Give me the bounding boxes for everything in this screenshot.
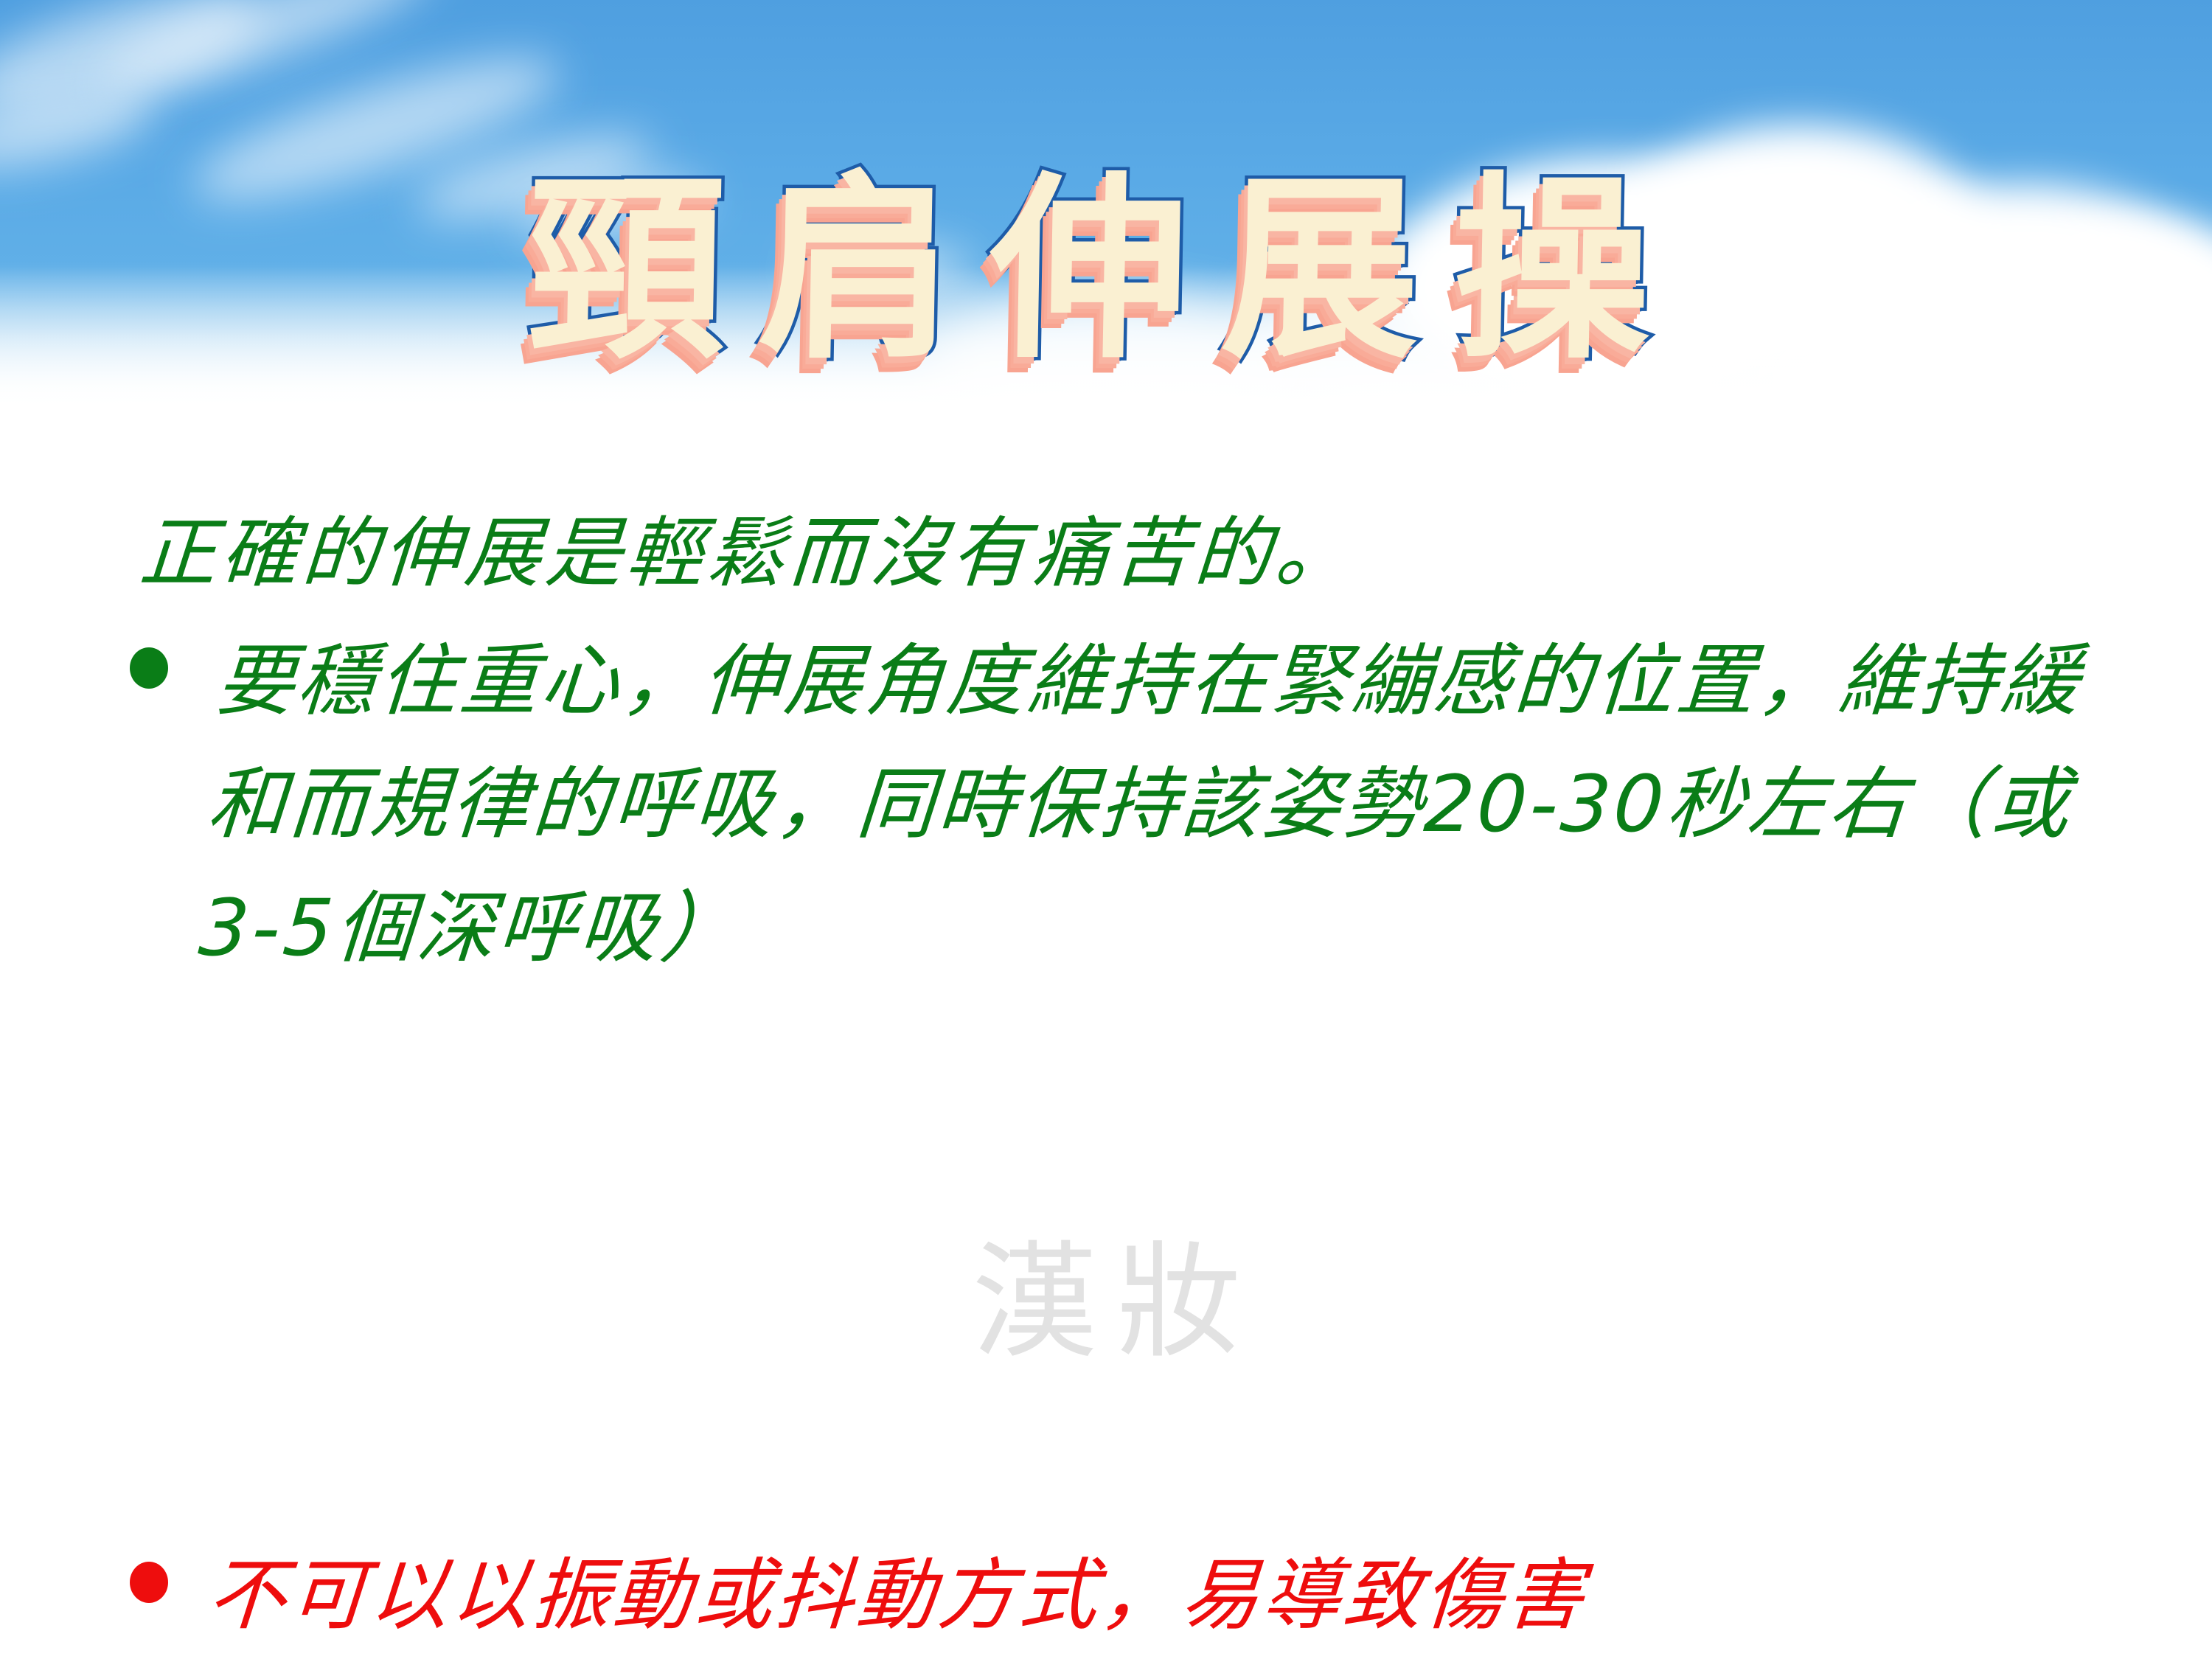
horizon-haze bbox=[0, 267, 2212, 422]
intro-statement: 正確的伸展是輕鬆而沒有痛苦的。 bbox=[137, 512, 1360, 594]
sky-background-banner bbox=[0, 0, 2212, 422]
list-item: 不可以以振動或抖動方式，易導致傷害 bbox=[130, 1534, 2121, 1657]
bullet-text-2: 不可以以振動或抖動方式，易導致傷害 bbox=[204, 1534, 1591, 1657]
bullet-dot-icon bbox=[130, 647, 168, 689]
bullet-text-1: 要穩住重心，伸展角度維持在緊繃感的位置，維持緩和而規律的呼吸，同時保持該姿勢20… bbox=[195, 619, 2133, 990]
bullet-dot-icon bbox=[130, 1562, 168, 1603]
presentation-slide: 頸肩伸展操 漢妝 正確的伸展是輕鬆而沒有痛苦的。 要穩住重心，伸展角度維持在緊繃… bbox=[0, 0, 2212, 1659]
list-item: 要穩住重心，伸展角度維持在緊繃感的位置，維持緩和而規律的呼吸，同時保持該姿勢20… bbox=[130, 619, 2121, 990]
body-text-layer: 正確的伸展是輕鬆而沒有痛苦的。 要穩住重心，伸展角度維持在緊繃感的位置，維持緩和… bbox=[0, 472, 2212, 1283]
slide-body: 漢妝 正確的伸展是輕鬆而沒有痛苦的。 要穩住重心，伸展角度維持在緊繃感的位置，維… bbox=[0, 472, 2212, 1283]
